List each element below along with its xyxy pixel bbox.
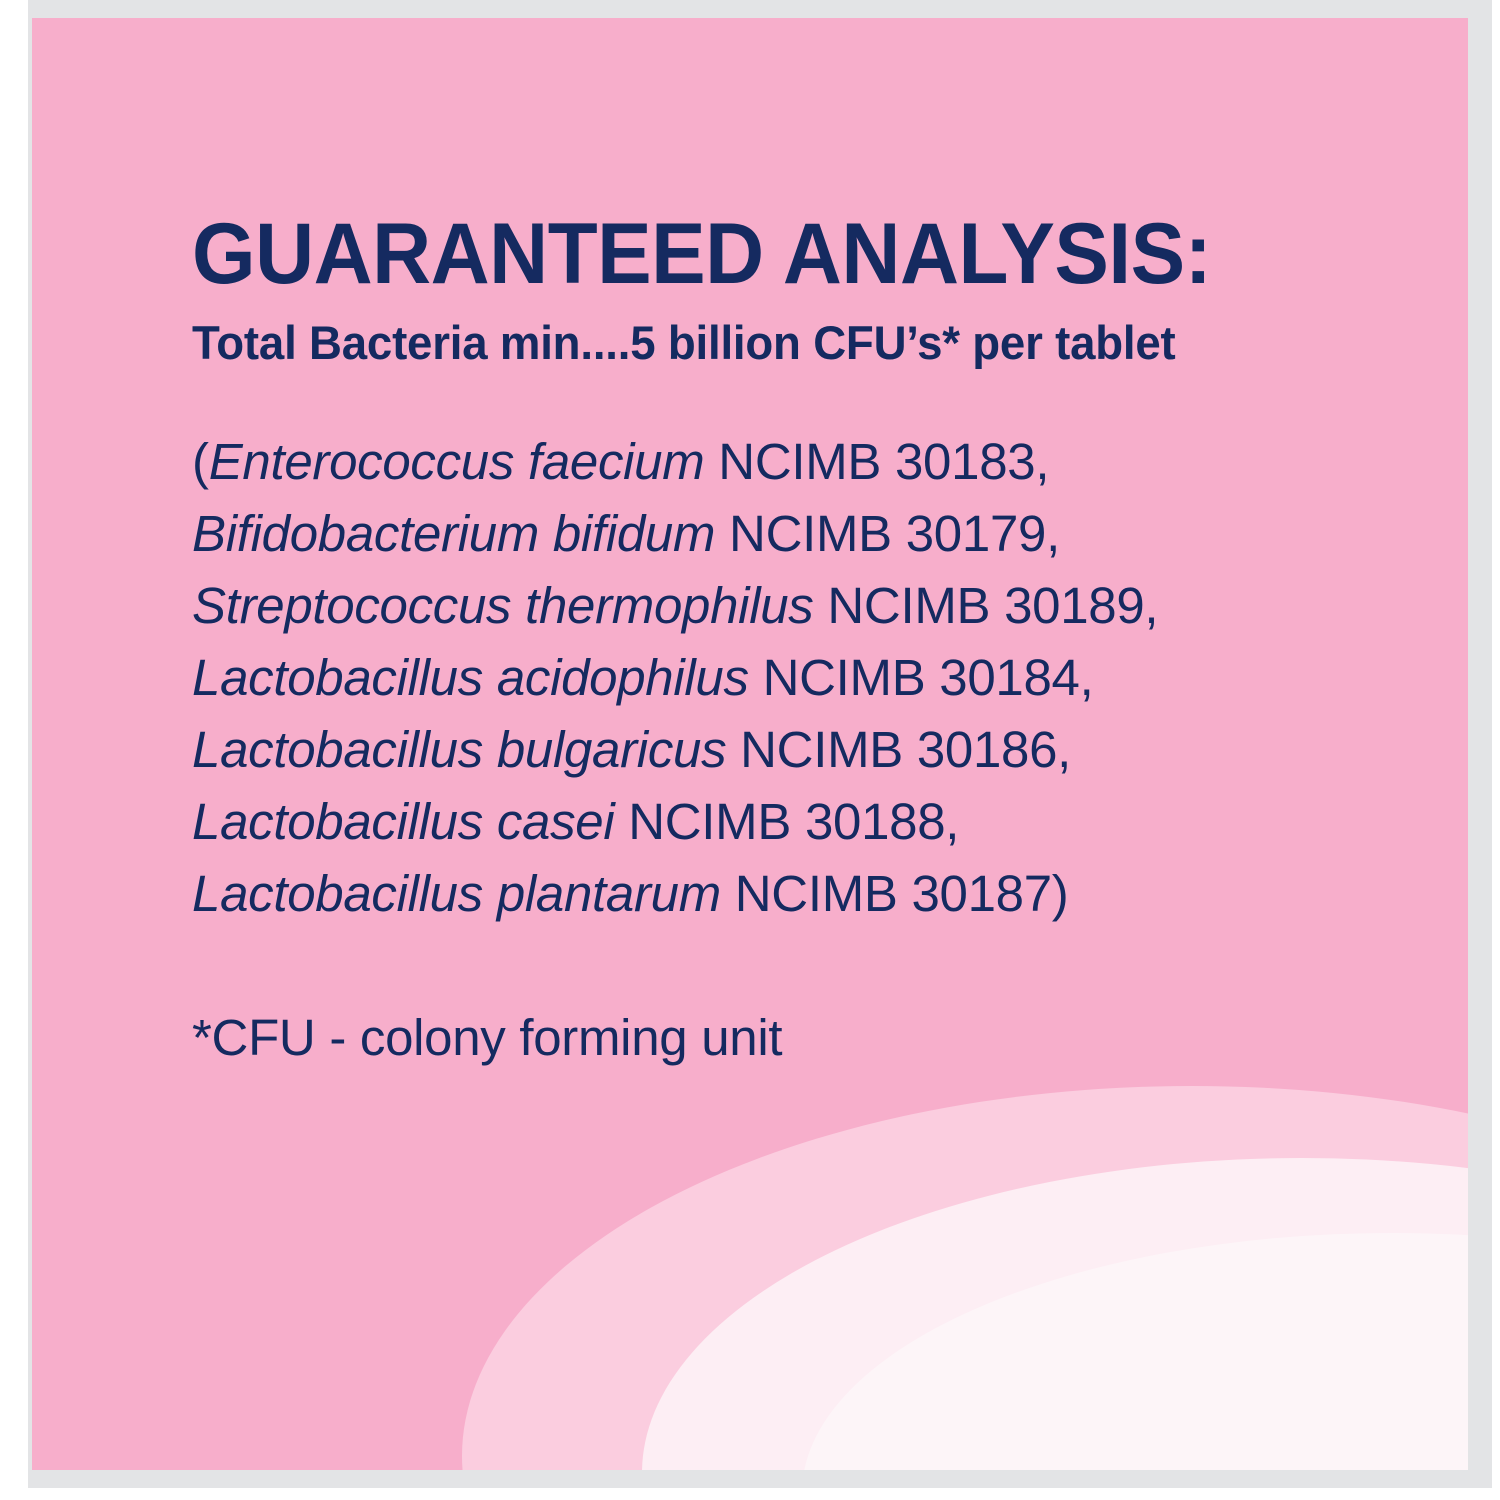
list-item: Lactobacillus acidophilus NCIMB 30184, <box>192 642 1392 714</box>
species-open-paren: ( <box>192 433 209 490</box>
species-name: Enterococcus faecium <box>209 433 705 490</box>
species-spacer <box>614 793 628 850</box>
label-image: GUARANTEED ANALYSIS: Total Bacteria min.… <box>0 0 1500 1500</box>
decorative-arc-light <box>642 1158 1468 1470</box>
species-name: Lactobacillus bulgaricus <box>192 721 726 778</box>
species-name: Bifidobacterium bifidum <box>192 505 715 562</box>
decorative-arc-mid <box>462 1086 1468 1470</box>
species-strain-code: NCIMB 30188, <box>628 793 959 850</box>
species-name: Lactobacillus acidophilus <box>192 649 749 706</box>
species-name: Lactobacillus plantarum <box>192 865 721 922</box>
species-name: Streptococcus thermophilus <box>192 577 814 634</box>
species-spacer <box>749 649 763 706</box>
species-spacer <box>814 577 828 634</box>
page-title: GUARANTEED ANALYSIS: <box>192 208 1332 300</box>
species-strain-code: NCIMB 30186, <box>740 721 1071 778</box>
decorative-arc-white <box>802 1233 1468 1470</box>
list-item: (Enterococcus faecium NCIMB 30183, <box>192 426 1392 498</box>
species-strain-code: NCIMB 30189, <box>827 577 1158 634</box>
list-item: Lactobacillus casei NCIMB 30188, <box>192 786 1392 858</box>
species-list: (Enterococcus faecium NCIMB 30183, Bifid… <box>192 426 1392 930</box>
species-spacer <box>721 865 735 922</box>
guaranteed-analysis-panel: GUARANTEED ANALYSIS: Total Bacteria min.… <box>32 18 1468 1470</box>
species-strain-code: NCIMB 30179, <box>729 505 1060 562</box>
species-strain-code: NCIMB 30184, <box>763 649 1094 706</box>
cfu-footnote: *CFU - colony forming unit <box>192 1002 1392 1074</box>
list-item: Lactobacillus bulgaricus NCIMB 30186, <box>192 714 1392 786</box>
species-spacer <box>715 505 729 562</box>
total-bacteria-statement: Total Bacteria min....5 billion CFU’s* p… <box>192 314 1356 372</box>
species-strain-code: NCIMB 30187) <box>735 865 1069 922</box>
species-spacer <box>704 433 718 490</box>
list-item: Streptococcus thermophilus NCIMB 30189, <box>192 570 1392 642</box>
list-item: Bifidobacterium bifidum NCIMB 30179, <box>192 498 1392 570</box>
panel-content: GUARANTEED ANALYSIS: Total Bacteria min.… <box>192 208 1392 1125</box>
list-item: Lactobacillus plantarum NCIMB 30187) <box>192 858 1392 930</box>
species-name: Lactobacillus casei <box>192 793 614 850</box>
species-spacer <box>726 721 740 778</box>
species-strain-code: NCIMB 30183, <box>718 433 1049 490</box>
